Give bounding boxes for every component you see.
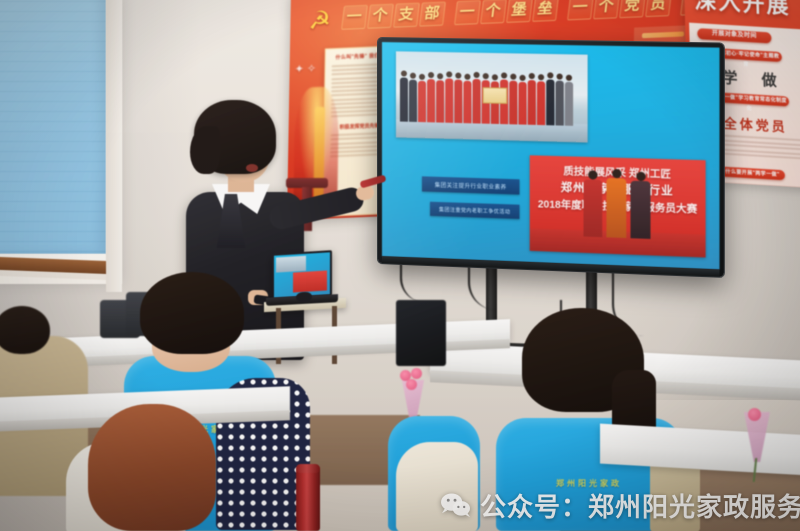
presenter-hair-side: [190, 126, 220, 174]
thermos-cap: [296, 464, 320, 473]
window-blind: [0, 0, 106, 254]
bouquet-right: [738, 406, 778, 476]
photo-scene: ☭ 一 个 支 部 一 个 堡 垒 一 个 党 员 一 面 旗 帜 什么叫"先锋…: [0, 0, 800, 531]
dove-graphic: ✦ ✧: [294, 62, 329, 93]
certificate-plaque: [483, 87, 507, 104]
blind-slats: [0, 0, 106, 254]
attendee-head: [0, 306, 50, 354]
slide-photo-award: 质技能展风采 郑州工匠 郑州市家庭服务行业 2018年度职业技能家政服务员大赛: [530, 155, 706, 257]
watermark: 公众号：郑州阳光家政服务公司: [440, 487, 800, 524]
wechat-icon: [440, 492, 471, 519]
panel-right-title: 深入开展: [694, 0, 791, 21]
window-jamb: [106, 0, 122, 292]
attendee-hair: [140, 272, 244, 354]
panel-right-pill-1: 开展对象及时间: [697, 28, 771, 43]
tv-display[interactable]: 质技能展风采 郑州工匠 郑州市家庭服务行业 2018年度职业技能家政服务员大赛 …: [378, 38, 724, 277]
presenter-mouth: [246, 164, 258, 172]
panel-right-pill-4: 为什么要开展"两学一做": [715, 166, 785, 180]
spare-monitor: [396, 300, 446, 366]
attendee-red-hair-top: [88, 404, 216, 531]
slide-photo-group: [396, 51, 588, 142]
watermark-text: 公众号：郑州阳光家政服务公司: [480, 487, 800, 524]
thermos: [296, 466, 320, 531]
slide-caption-2: 集团注重党内老职工争优活动: [430, 202, 519, 219]
party-emblem-icon: ☭: [308, 8, 338, 35]
tv-screen: 质技能展风采 郑州工匠 郑州市家庭服务行业 2018年度职业技能家政服务员大赛 …: [382, 42, 720, 269]
attendee-red-hair: [66, 404, 246, 531]
slide-caption-1: 集团关注提升行业职业素养: [422, 176, 519, 194]
